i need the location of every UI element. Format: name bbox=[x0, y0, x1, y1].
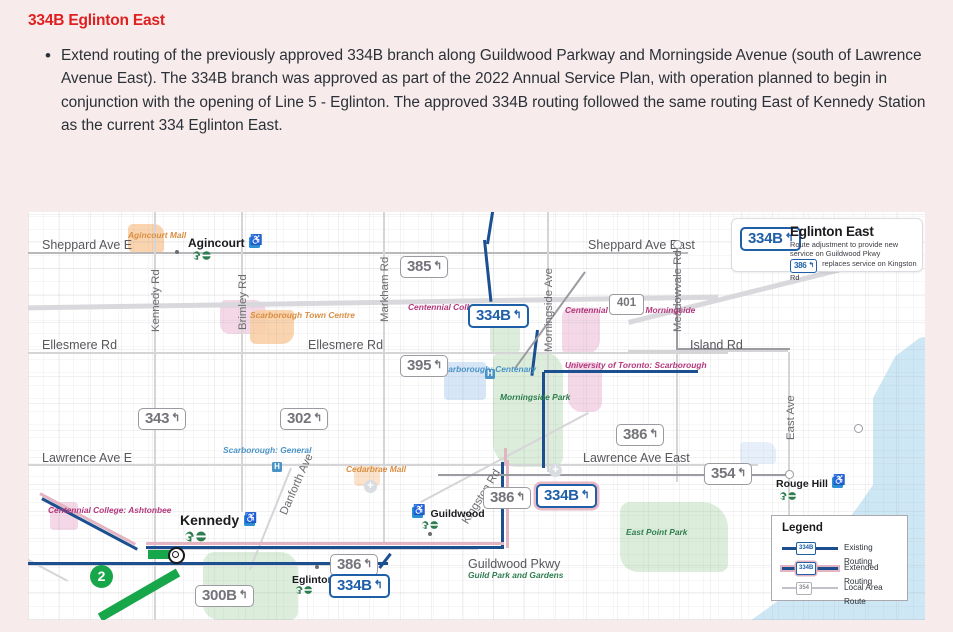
route-endpoint bbox=[854, 424, 863, 433]
hospital-icon-centenary: H bbox=[485, 363, 495, 381]
route-badge-label: 302 bbox=[287, 410, 311, 427]
route-endpoint bbox=[785, 470, 794, 479]
stop-marker bbox=[175, 250, 179, 254]
route-badge-label: 343 bbox=[145, 410, 169, 427]
go-transit-icon bbox=[191, 250, 215, 261]
route-badge-label: 334B bbox=[544, 487, 579, 504]
route-badge-386-north[interactable]: 386 ↰ bbox=[616, 424, 664, 446]
station-kennedy[interactable]: Kennedy bbox=[180, 512, 255, 530]
go-logo-rouge-hill bbox=[778, 488, 800, 506]
route-badge-label: 334B bbox=[476, 307, 511, 324]
bullet-marker: • bbox=[45, 44, 61, 67]
street-label-markham-rd: Markham Rd bbox=[379, 257, 391, 322]
route-badge-label: 386 bbox=[337, 556, 361, 573]
route-badge-label: 300B bbox=[202, 587, 237, 604]
bullet-list: • Extend routing of the previously appro… bbox=[45, 44, 935, 137]
route-badge-334b-progress[interactable]: 334B ↰ bbox=[468, 304, 529, 328]
go-transit-icon bbox=[420, 520, 442, 530]
street-label-morningside-ave: Morningside Ave bbox=[543, 268, 555, 352]
route-badge-334b-extended[interactable]: 334B ↰ bbox=[536, 484, 597, 508]
street-label-island-rd: Island Rd bbox=[690, 338, 743, 352]
hospital-icon-general: H bbox=[272, 456, 282, 474]
route-hook-icon: ↰ bbox=[581, 490, 590, 501]
route-hook-icon: ↰ bbox=[313, 413, 322, 424]
map-legend: Legend 334B Existing Routing 334B Extend… bbox=[771, 515, 908, 601]
route-extended-lawrence-stub bbox=[504, 448, 507, 466]
street-label-sheppard-ave-e: Sheppard Ave E bbox=[42, 238, 132, 252]
poi-scarborough-town-centre: Scarborough Town Centre bbox=[250, 310, 296, 320]
route-hook-icon: ↰ bbox=[649, 429, 658, 440]
route-badge-label: 334B bbox=[748, 230, 783, 247]
go-logo-eglinton bbox=[294, 582, 316, 600]
route-badge-386-eglinton[interactable]: 386 ↰ bbox=[330, 554, 378, 576]
route-hook-icon: ↰ bbox=[513, 310, 522, 321]
route-hook-icon: ↰ bbox=[171, 413, 180, 424]
route-badge-label: 386 bbox=[794, 261, 806, 270]
stop-marker bbox=[315, 565, 319, 569]
route-badge-343[interactable]: 343 ↰ bbox=[138, 408, 186, 430]
street-label-brimley-rd: Brimley Rd bbox=[237, 274, 249, 330]
title-card-description: Route adjustment to provide new service … bbox=[790, 240, 922, 258]
route-badge-label: 386 bbox=[490, 489, 514, 506]
poi-cedarbrae-mall: Cedarbrae Mall bbox=[346, 464, 388, 474]
bullet-text: Extend routing of the previously approve… bbox=[61, 44, 935, 137]
page-title: 334B Eglinton East bbox=[28, 12, 165, 30]
route-hook-icon: ↰ bbox=[737, 468, 746, 479]
legend-row-extended: 334B Extended Routing bbox=[782, 561, 902, 575]
route-hook-icon: ↰ bbox=[239, 590, 248, 601]
route-hook-icon: ↰ bbox=[433, 360, 442, 371]
legend-chip: 334B bbox=[796, 542, 816, 555]
legend-chip: 334B bbox=[796, 562, 816, 575]
go-transit-icon bbox=[294, 585, 316, 595]
go-transit-icon bbox=[183, 530, 211, 543]
kennedy-interchange-node bbox=[168, 547, 185, 564]
accessibility-icon bbox=[244, 515, 255, 526]
title-card-note: 386 ↰ replaces service on Kingston Rd bbox=[790, 259, 922, 282]
street-label-guildwood-pkwy: Guildwood Pkwy bbox=[468, 557, 560, 571]
line-2-bullet: 2 bbox=[90, 565, 113, 588]
poi-centennial-ashtonbee: Centennial College: Ashtonbee bbox=[48, 505, 102, 515]
legend-row-existing: 334B Existing Routing bbox=[782, 541, 902, 555]
route-hook-icon: ↰ bbox=[516, 492, 525, 503]
street-label-ellesmere-rd-east: Ellesmere Rd bbox=[308, 338, 383, 352]
road-sheppard bbox=[28, 252, 688, 254]
street-label-east-ave: East Ave bbox=[785, 395, 797, 440]
highway-401-shield: 401 bbox=[609, 294, 644, 315]
accessibility-icon bbox=[832, 477, 843, 488]
route-badge-386-guildwood[interactable]: 386 ↰ bbox=[483, 487, 531, 509]
title-card-name: Eglinton East bbox=[790, 224, 874, 239]
highway-shield-label: 401 bbox=[609, 294, 644, 315]
route-badge-label: 386 bbox=[623, 426, 647, 443]
go-transit-icon bbox=[778, 491, 800, 501]
transfer-plus-icon: + bbox=[364, 480, 377, 493]
route-hook-icon: ↰ bbox=[374, 580, 383, 591]
street-label-kennedy-rd: Kennedy Rd bbox=[150, 269, 162, 332]
route-334b-morningside bbox=[542, 372, 545, 468]
route-hook-icon: ↰ bbox=[808, 260, 814, 271]
street-label-lawrence-ave-east: Lawrence Ave East bbox=[583, 451, 690, 465]
route-hook-icon: ↰ bbox=[433, 261, 442, 272]
route-badge-302[interactable]: 302 ↰ bbox=[280, 408, 328, 430]
poi-east-point-park: East Point Park bbox=[626, 527, 678, 537]
stop-marker bbox=[428, 532, 432, 536]
legend-row-local: 354 Local Area Route bbox=[782, 581, 902, 595]
route-334b-lawrence-east bbox=[544, 370, 698, 373]
transfer-plus-icon: + bbox=[549, 464, 562, 477]
go-logo-agincourt bbox=[191, 248, 215, 266]
legend-title: Legend bbox=[782, 522, 823, 534]
route-badge-label: 334B bbox=[337, 577, 372, 594]
poi-agincourt-mall: Agincourt Mall bbox=[128, 230, 170, 240]
street-label-lawrence-ave-e: Lawrence Ave E bbox=[42, 451, 132, 465]
route-badge-label: 385 bbox=[407, 258, 431, 275]
route-badge-300b[interactable]: 300B ↰ bbox=[195, 585, 254, 607]
station-label: Kennedy bbox=[180, 512, 239, 528]
accessibility-icon bbox=[249, 237, 260, 248]
route-badge-395[interactable]: 395 ↰ bbox=[400, 355, 448, 377]
route-badge-label: 395 bbox=[407, 357, 431, 374]
legend-label: Local Area Route bbox=[844, 581, 902, 609]
road-ellesmere bbox=[28, 352, 728, 354]
list-item: • Extend routing of the previously appro… bbox=[45, 44, 935, 137]
road-brimley bbox=[241, 212, 243, 512]
poi-centennial-progress: Centennial College: Progress bbox=[408, 302, 466, 312]
poi-scarborough-general: Scarborough: General bbox=[223, 445, 281, 455]
route-endpoint bbox=[673, 240, 682, 249]
street-label-ellesmere-rd-west: Ellesmere Rd bbox=[42, 338, 117, 352]
title-card-note-badge[interactable]: 386 ↰ bbox=[790, 259, 817, 273]
route-badge-label: 354 bbox=[711, 465, 735, 482]
route-hook-icon: ↰ bbox=[363, 559, 372, 570]
transit-map[interactable]: 2 Sheppard Ave E Sheppard Ave East Elles… bbox=[28, 212, 925, 620]
route-badge-385[interactable]: 385 ↰ bbox=[400, 256, 448, 278]
poi-utsc: University of Toronto: Scarborough bbox=[565, 360, 637, 370]
poi-guild-park-and-gardens: Guild Park and Gardens bbox=[468, 570, 526, 580]
map-title-card: 334B ↰ Eglinton East Route adjustment to… bbox=[731, 218, 923, 272]
street-label-meadowvale-rd: Meadowvale Rd bbox=[672, 250, 684, 332]
route-badge-354[interactable]: 354 ↰ bbox=[704, 463, 752, 485]
go-logo-kennedy bbox=[183, 530, 211, 548]
legend-chip: 354 bbox=[796, 582, 812, 595]
route-badge-334b-eglinton[interactable]: 334B ↰ bbox=[329, 574, 390, 598]
poi-morningside-park: Morningside Park bbox=[500, 392, 556, 402]
